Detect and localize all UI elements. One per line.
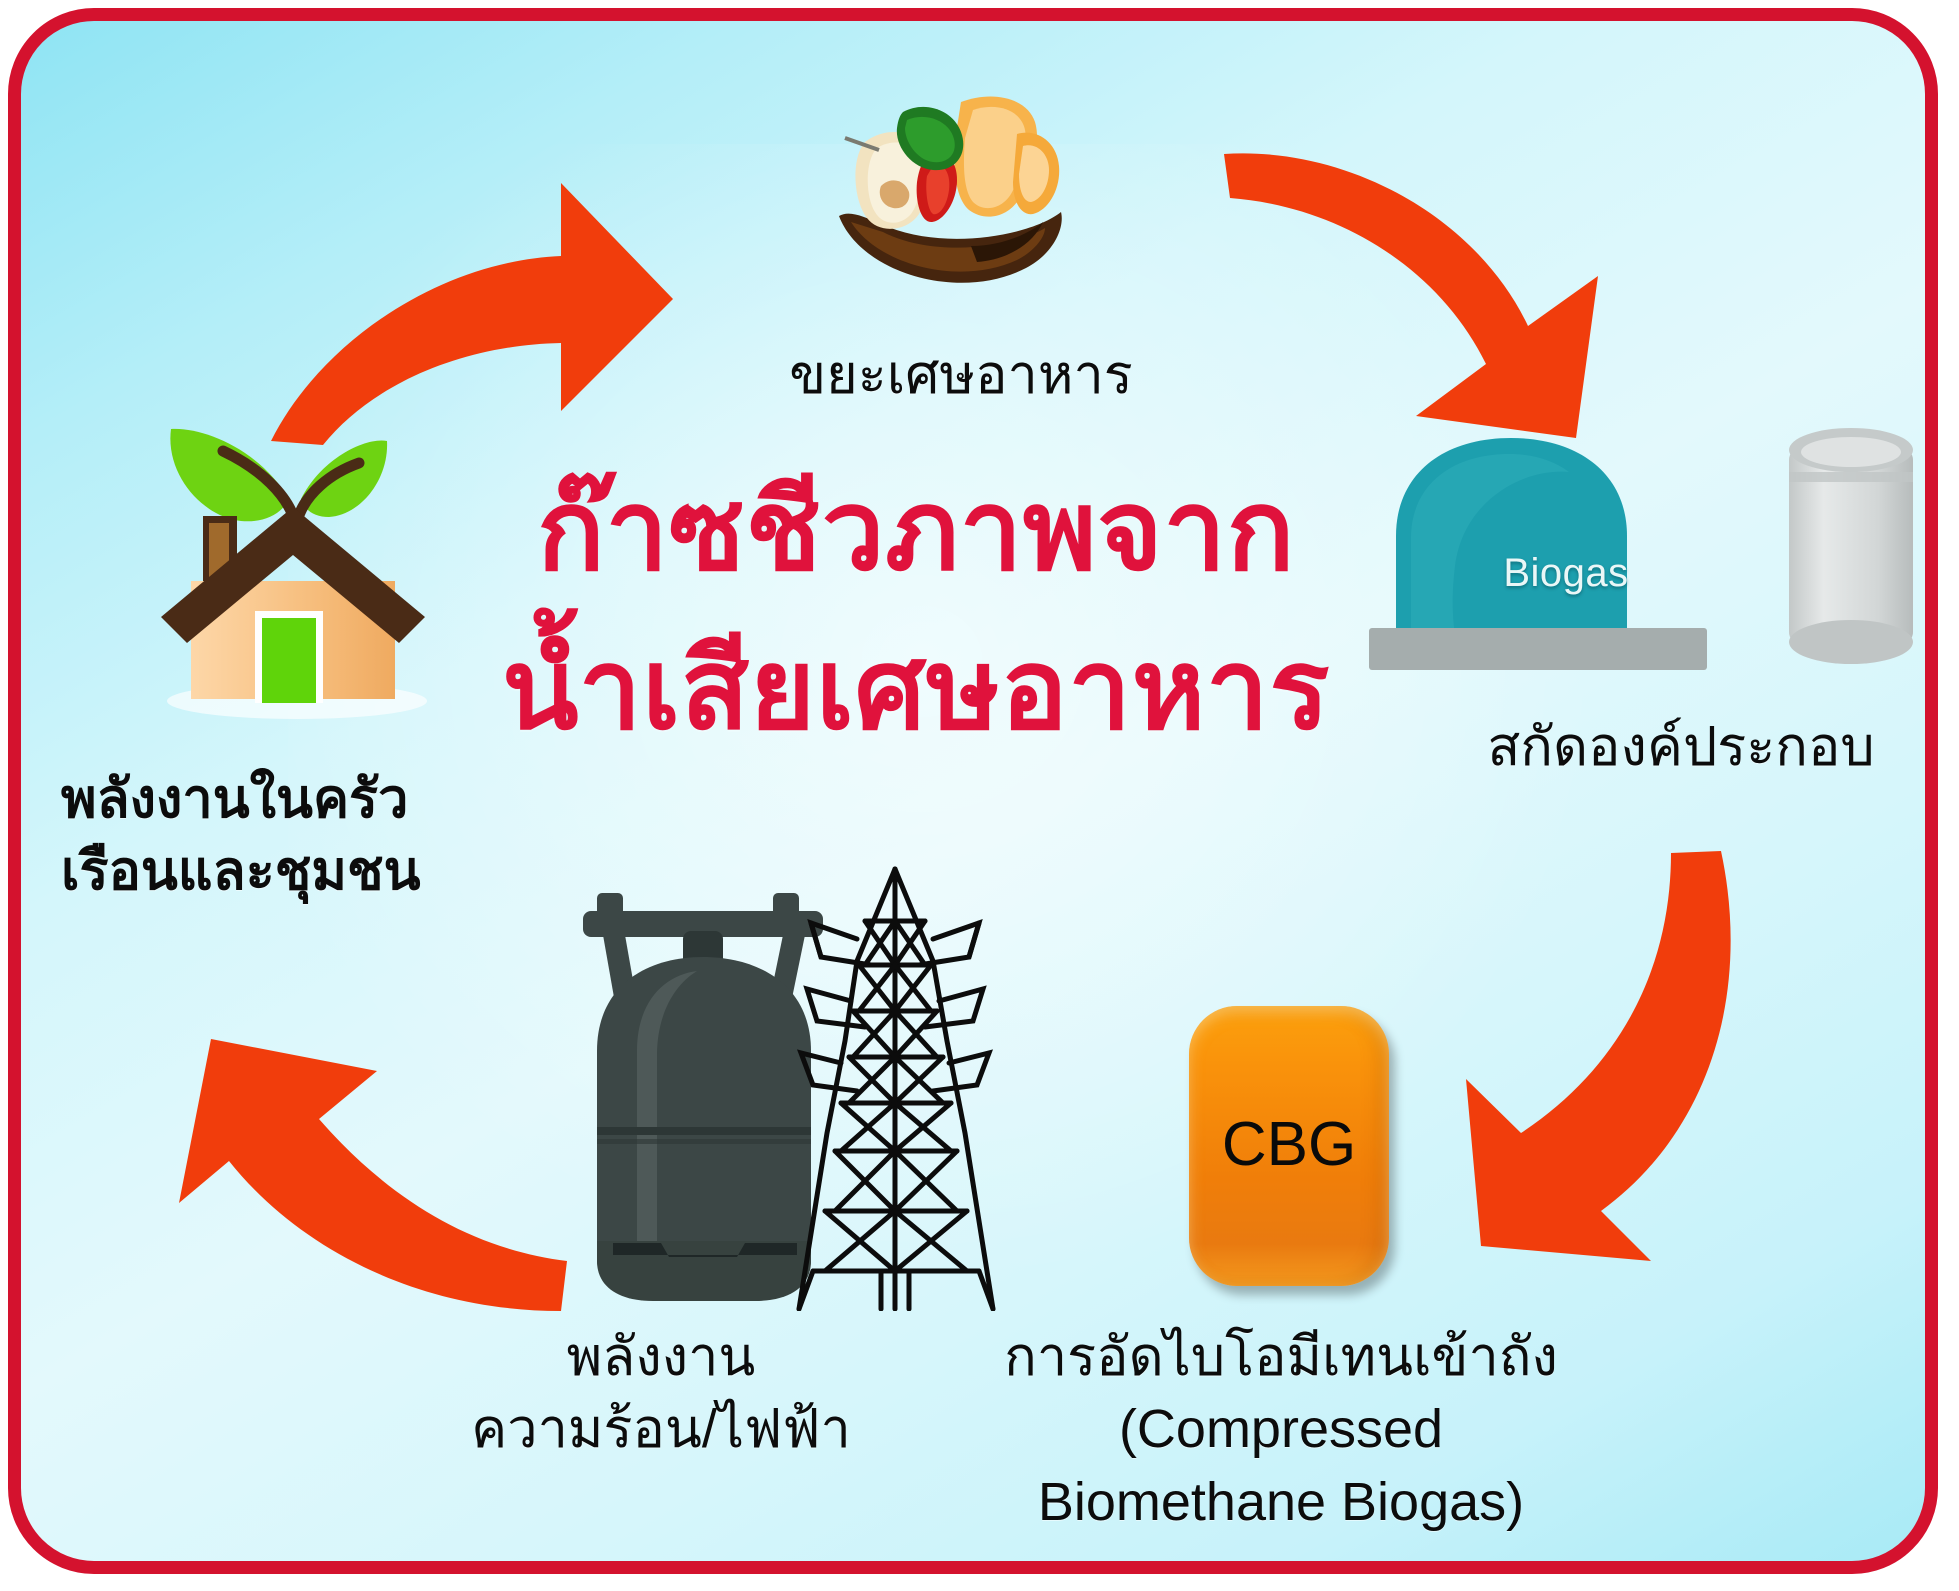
title-line-1: ก๊าซชีวภาพจาก bbox=[476, 451, 1356, 610]
heat-power-label-line-1: พลังงาน bbox=[421, 1321, 901, 1393]
transmission-tower-icon bbox=[761, 861, 1031, 1311]
title-line-2: น้ำเสียเศษอาหาร bbox=[476, 610, 1356, 769]
cbg-label-line-1: การอัดไบโอมีเทนเข้าถัง bbox=[971, 1321, 1591, 1393]
cbg-label-line-3: Biomethane Biogas) bbox=[971, 1466, 1591, 1538]
cbg-tank-label: CBG bbox=[1189, 1109, 1389, 1180]
extract-label: สกัดองค์ประกอบ bbox=[1421, 711, 1938, 783]
home-energy-label-line-1: พลังงานในครัว bbox=[61, 763, 481, 835]
home-energy-label-line-2: เรือนและชุมชน bbox=[61, 835, 481, 907]
eco-house-icon bbox=[149, 371, 439, 731]
infographic-canvas: Biogas CBG bbox=[0, 0, 1959, 1591]
food-waste-label: ขยะเศษอาหาร bbox=[641, 339, 1281, 411]
infographic-frame: Biogas CBG bbox=[8, 8, 1938, 1574]
biogas-dome-label: Biogas bbox=[1451, 551, 1681, 596]
page-title: ก๊าซชีวภาพจาก น้ำเสียเศษอาหาร bbox=[476, 451, 1356, 769]
heat-power-label: พลังงาน ความร้อน/ไฟฟ้า bbox=[421, 1321, 901, 1466]
cbg-label-block: การอัดไบโอมีเทนเข้าถัง (Compressed Biome… bbox=[971, 1321, 1591, 1538]
arrow-extract-to-cbg-icon bbox=[1421, 841, 1761, 1261]
heat-power-label-line-2: ความร้อน/ไฟฟ้า bbox=[421, 1393, 901, 1465]
arrow-cbg-to-home-icon bbox=[169, 1011, 569, 1331]
cbg-label-line-2: (Compressed bbox=[971, 1393, 1591, 1465]
home-energy-label: พลังงานในครัว เรือนและชุมชน bbox=[61, 763, 481, 908]
food-waste-photo-icon bbox=[821, 76, 1071, 301]
